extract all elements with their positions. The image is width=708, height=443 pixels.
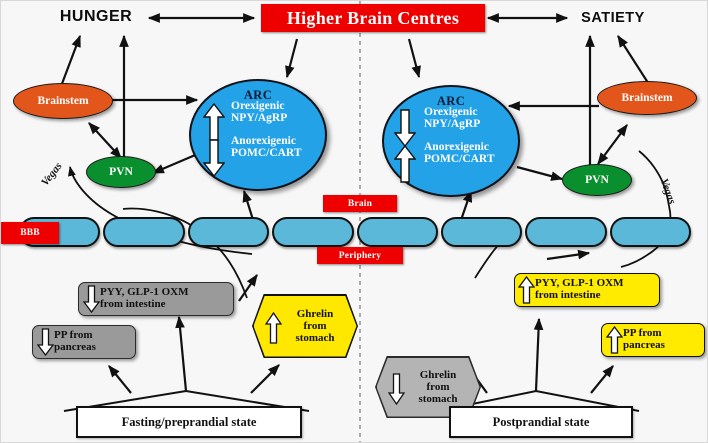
arrow-banner-left-arc xyxy=(287,39,297,77)
right-arc-orexigenic: Orexigenic NPY/AgRP xyxy=(424,106,512,131)
left-pyy-line2: from intestine xyxy=(100,299,189,311)
arrow-right-pyy-barrier xyxy=(547,253,589,259)
barrier-capsule xyxy=(103,217,184,247)
left-arc-anorexigenic-genes: POMC/CART xyxy=(231,147,319,159)
left-pp-line2: pancreas xyxy=(54,342,96,354)
left-ghrelin-line1: Ghrelin xyxy=(280,308,351,320)
bbb-label: BBB xyxy=(1,222,59,244)
arrow-right-brainstem-pvn xyxy=(598,125,627,164)
right-arc-anorexigenic-up-arrow xyxy=(394,145,416,183)
barrier-capsule xyxy=(441,217,522,247)
appetite-regulation-diagram: BBB Brain Periphery Higher Brain Centres… xyxy=(0,0,708,443)
right-state-box: Postprandial state xyxy=(449,406,633,438)
right-arc-orexigenic-down-arrow xyxy=(394,109,416,147)
right-arc-anorexigenic-genes: POMC/CART xyxy=(424,153,512,165)
right-arc: ARC Orexigenic NPY/AgRP Anorexigenic POM… xyxy=(382,85,520,197)
right-pyy-up-arrow xyxy=(518,276,535,304)
left-arc-anorexigenic-label: Anorexigenic xyxy=(231,135,319,147)
left-arc-orexigenic-label: Orexigenic xyxy=(231,100,319,112)
left-pyy-down-arrow xyxy=(83,285,100,313)
right-pp-text: PP from pancreas xyxy=(623,328,669,351)
left-arc-orexigenic-up-arrow xyxy=(203,103,225,141)
hunger-label: HUNGER xyxy=(41,8,151,26)
left-state-box: Fasting/preprandial state xyxy=(76,406,302,438)
arrow-right-state-pyy xyxy=(536,319,539,391)
left-arc-orexigenic-genes: NPY/AgRP xyxy=(231,112,319,124)
left-ghrelin-text: Ghrelin from stomach xyxy=(254,308,357,344)
right-pyy-text: PYY, GLP-1 OXM from intestine xyxy=(535,278,628,301)
left-pvn: PVN xyxy=(86,156,156,188)
barrier-capsule xyxy=(525,217,606,247)
right-brainstem: Brainstem xyxy=(597,81,697,115)
right-ghrelin-line1: Ghrelin xyxy=(403,369,474,381)
arrow-left-brainstem-hunger xyxy=(60,36,80,89)
right-pp-pancreas-box: PP from pancreas xyxy=(601,323,705,357)
arrow-left-state-pyy xyxy=(179,317,186,391)
barrier-capsule xyxy=(272,217,353,247)
arrow-left-state-ghrelin xyxy=(251,365,279,393)
left-arc-anorexigenic-down-arrow xyxy=(203,139,225,177)
right-arc-orexigenic-label: Orexigenic xyxy=(424,106,512,118)
blood-brain-barrier xyxy=(19,217,691,247)
left-brainstem: Brainstem xyxy=(13,83,113,119)
satiety-label: SATIETY xyxy=(557,10,669,26)
left-arc: ARC Orexigenic NPY/AgRP Anorexigenic POM… xyxy=(189,79,327,191)
arrow-left-state-pp xyxy=(109,366,131,393)
higher-brain-centres-banner: Higher Brain Centres xyxy=(261,4,485,32)
arrow-left-brainstem-pvn xyxy=(89,123,121,158)
right-ghrelin-text: Ghrelin from stomach xyxy=(377,369,480,405)
right-arc-orexigenic-genes: NPY/AgRP xyxy=(424,118,512,130)
right-pp-line2: pancreas xyxy=(623,340,665,352)
periphery-tag: Periphery xyxy=(317,247,403,264)
brain-tag: Brain xyxy=(323,195,397,212)
left-pp-down-arrow xyxy=(37,328,54,356)
arrow-right-arc-pvn xyxy=(517,167,562,179)
barrier-capsule xyxy=(188,217,269,247)
left-ghrelin-box: Ghrelin from stomach xyxy=(252,294,358,358)
left-pyy-glp1-oxm-box: PYY, GLP-1 OXM from intestine xyxy=(78,282,234,316)
right-pvn: PVN xyxy=(562,164,632,196)
right-pyy-line2: from intestine xyxy=(535,290,624,302)
right-arc-anorexigenic-label: Anorexigenic xyxy=(424,141,512,153)
right-pp-up-arrow xyxy=(606,326,623,354)
arrow-right-state-pp xyxy=(591,366,613,393)
right-ghrelin-line3: stomach xyxy=(403,393,474,405)
barrier-capsule xyxy=(610,217,691,247)
right-arc-anorexigenic: Anorexigenic POMC/CART xyxy=(424,141,512,166)
left-ghrelin-line2: from xyxy=(280,320,351,332)
arrow-left-pyy-barrier xyxy=(239,275,257,301)
left-arc-orexigenic: Orexigenic NPY/AgRP xyxy=(231,100,319,125)
left-pyy-text: PYY, GLP-1 OXM from intestine xyxy=(100,287,193,310)
left-arc-anorexigenic: Anorexigenic POMC/CART xyxy=(231,135,319,160)
right-ghrelin-line2: from xyxy=(403,381,474,393)
arrow-banner-right-arc xyxy=(409,39,419,77)
barrier-capsule xyxy=(357,217,438,247)
left-ghrelin-line3: stomach xyxy=(280,332,351,344)
right-pyy-glp1-oxm-box: PYY, GLP-1 OXM from intestine xyxy=(514,273,660,307)
left-pp-pancreas-box: PP from pancreas xyxy=(32,325,136,359)
left-pp-text: PP from pancreas xyxy=(54,330,100,353)
